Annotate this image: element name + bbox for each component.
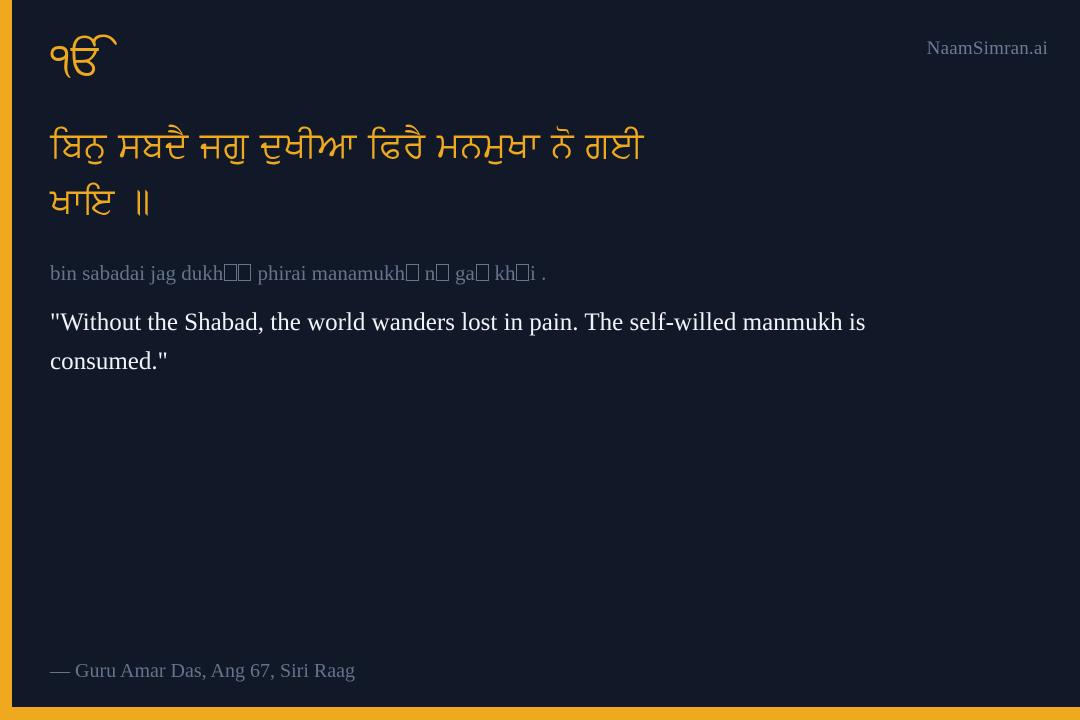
card-content: NaamSimran.ai ੴ ਬਿਨੁ ਸਬਦੈ ਜਗੁ ਦੁਖੀਆ ਫਿਰੈ… bbox=[12, 0, 1080, 707]
gurmukhi-line: ਬਿਨੁ ਸਬਦੈ ਜਗੁ ਦੁਖੀਆ ਫਿਰੈ ਮਨਮੁਖਾ ਨੋ ਗਈ bbox=[50, 118, 750, 174]
gurmukhi-verse: ਬਿਨੁ ਸਬਦੈ ਜਗੁ ਦੁਖੀਆ ਫਿਰੈ ਮਨਮੁਖਾ ਨੋ ਗਈ ਖਾ… bbox=[50, 118, 750, 230]
missing-glyph-box bbox=[516, 264, 529, 281]
gurmukhi-line: ਖਾਇ ॥ bbox=[50, 174, 750, 230]
ik-onkar-icon: ੴ bbox=[50, 38, 1046, 82]
brand-wordmark: NaamSimran.ai bbox=[927, 38, 1048, 60]
english-translation: "Without the Shabad, the world wanders l… bbox=[50, 304, 870, 382]
transliteration-line: bin sabadai jag dukh phirai manamukh n g… bbox=[50, 258, 880, 288]
attribution-line: — Guru Amar Das, Ang 67, Siri Raag bbox=[50, 660, 355, 683]
quote-card: NaamSimran.ai ੴ ਬਿਨੁ ਸਬਦੈ ਜਗੁ ਦੁਖੀਆ ਫਿਰੈ… bbox=[0, 0, 1080, 720]
missing-glyph-box bbox=[476, 264, 489, 281]
missing-glyph-box bbox=[224, 264, 237, 281]
missing-glyph-box bbox=[238, 264, 251, 281]
missing-glyph-box bbox=[436, 264, 449, 281]
missing-glyph-box bbox=[406, 264, 419, 281]
